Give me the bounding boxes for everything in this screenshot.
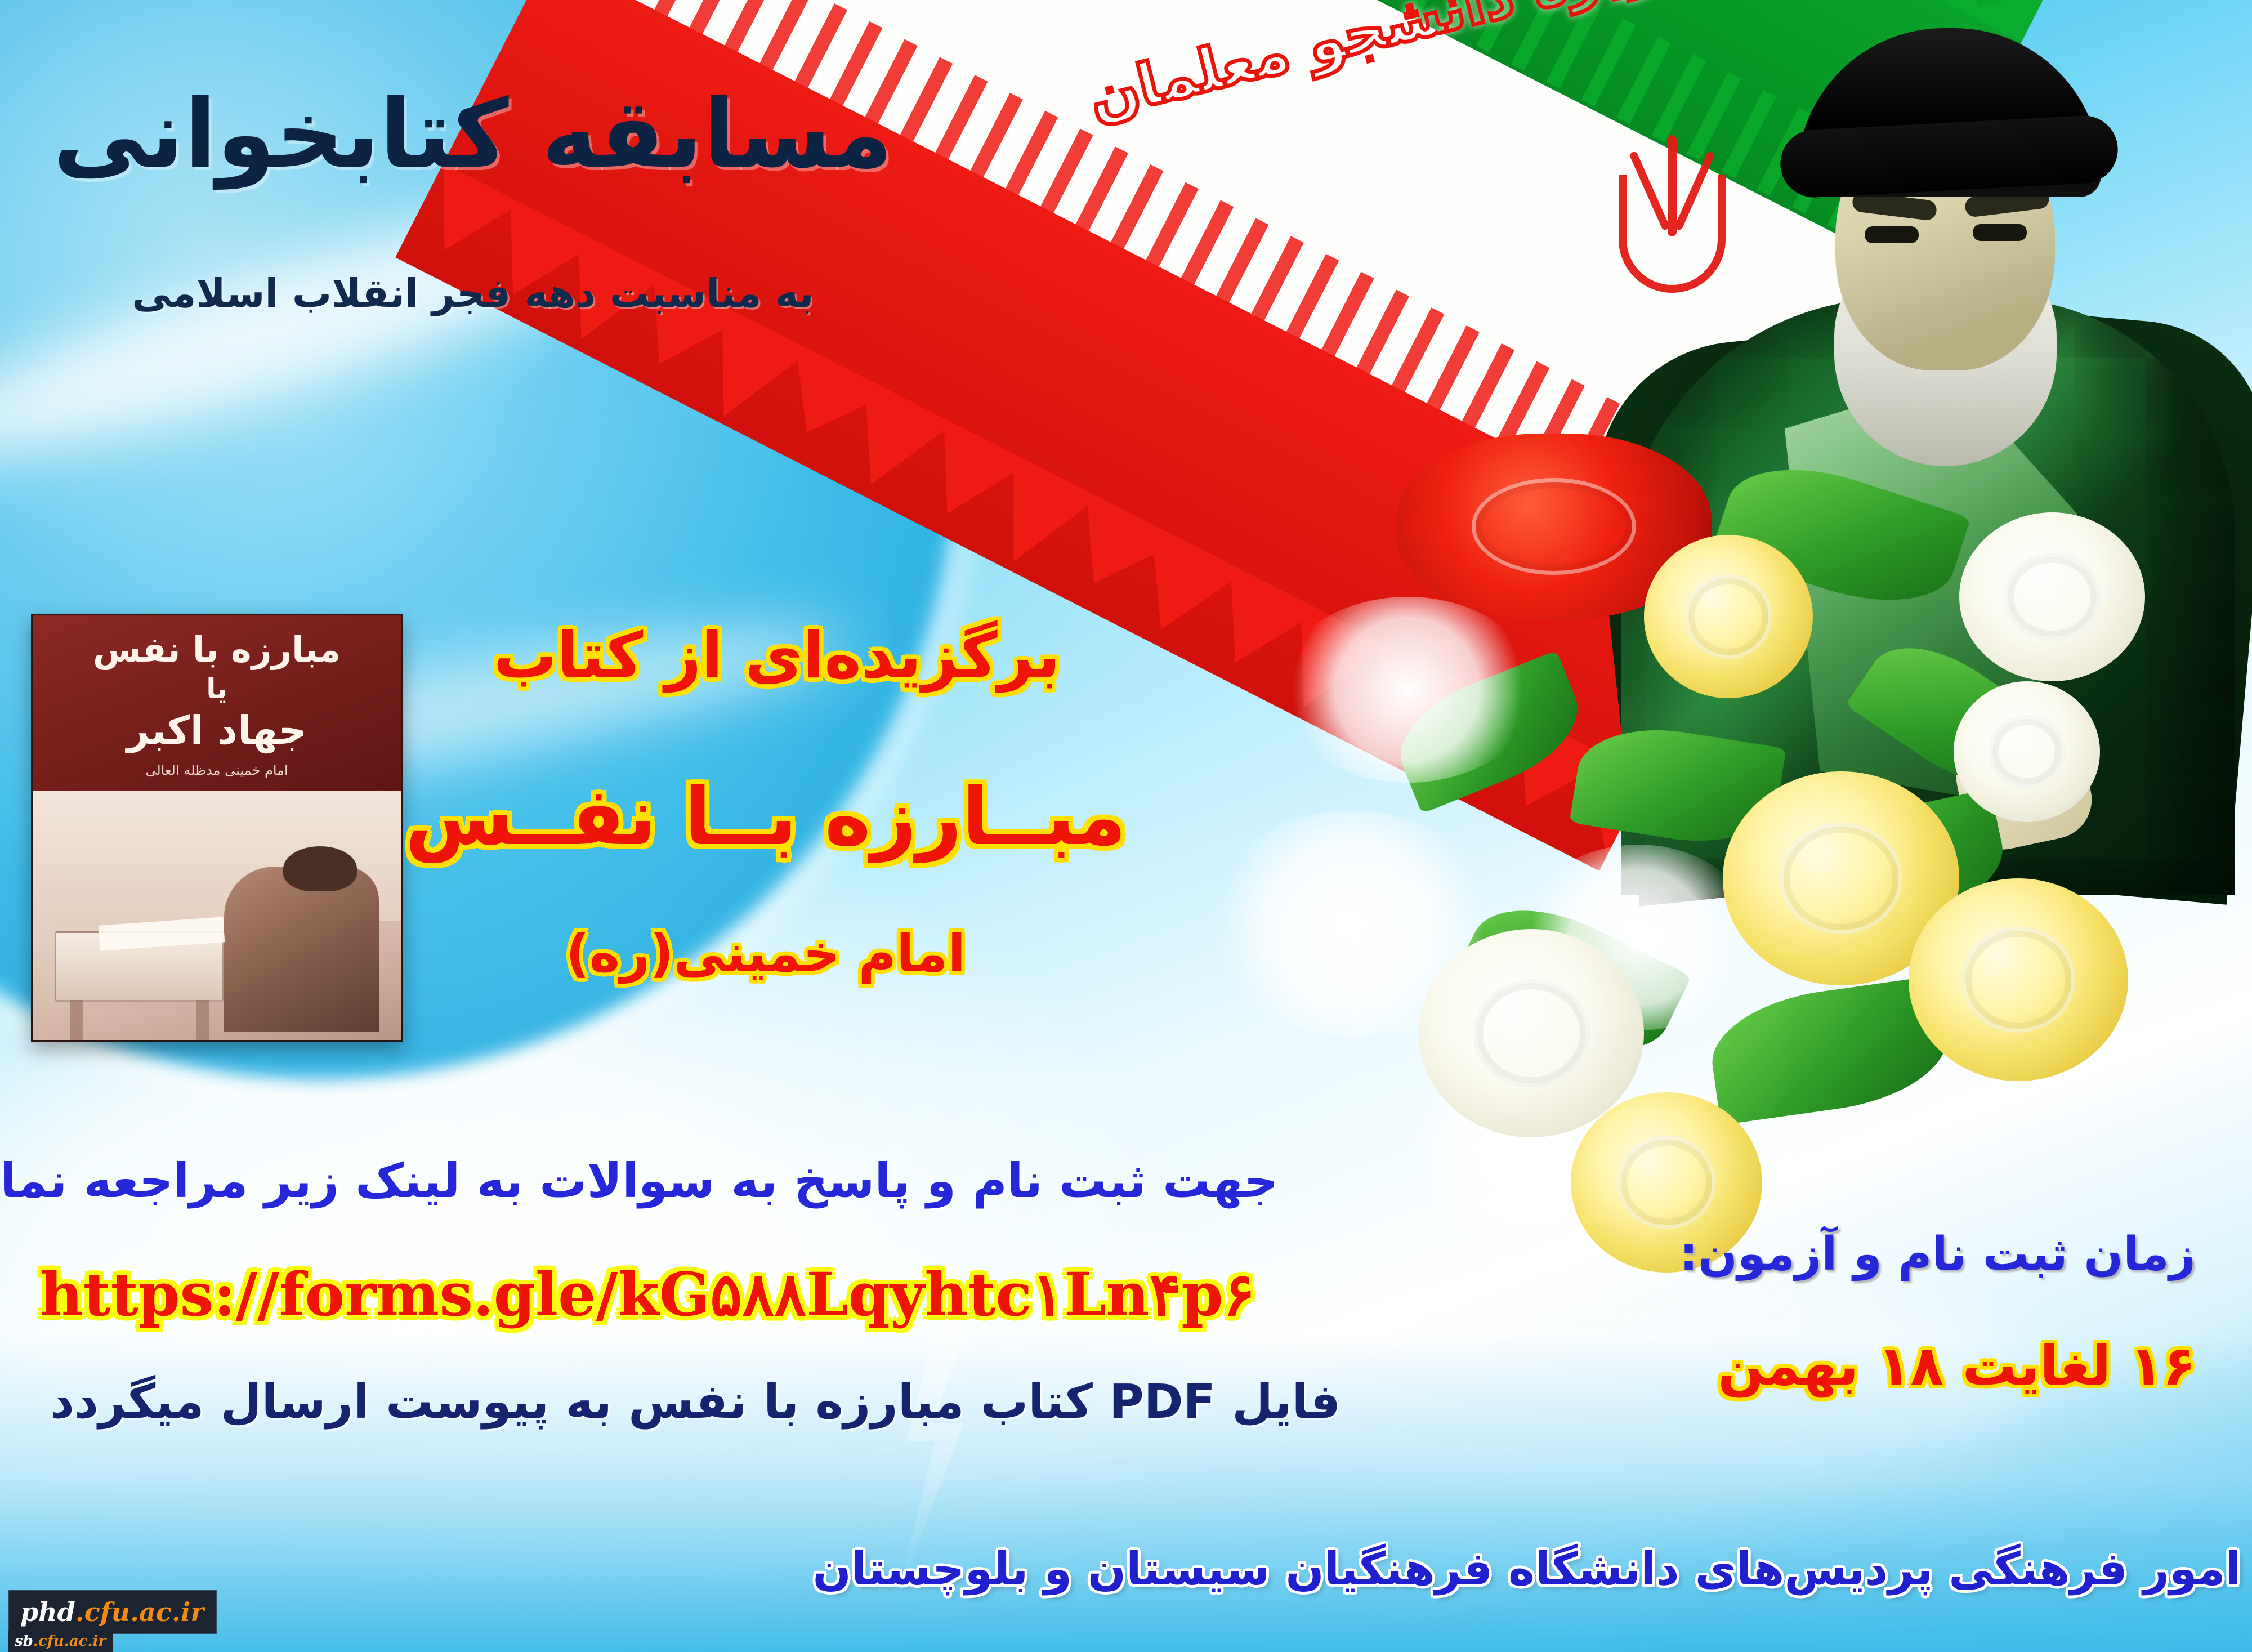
selection-label: برگزیده‌ای از کتاب: [417, 619, 1137, 693]
schedule-value: ۱۶ لغایت ۱۸ بهمن: [1441, 1334, 2196, 1397]
organizer-label: امور فرهنگی پردیس‌های دانشگاه فرهنگیان س…: [1053, 1543, 2241, 1595]
watermark-primary: phd.cfu.ac.ir: [8, 1590, 217, 1634]
poster-canvas: مبارزه با نفس یا جهاد اکبر امام خمینی مد…: [0, 0, 2252, 1652]
watermark-primary-suffix: .cfu.ac.ir: [75, 1597, 204, 1627]
page-subtitle: به مناسبت دهه فجر انقلاب اسلامی: [34, 270, 912, 316]
page-title: مسابقه کتابخوانی: [34, 79, 912, 189]
rose-white: [1419, 929, 1644, 1137]
rose-yellow: [1644, 535, 1813, 698]
book-cover-author: امام خمینی مدظله العالی: [145, 762, 288, 778]
book-cover-line3: جهاد اکبر: [127, 707, 307, 753]
photo-figure-head: [283, 846, 357, 891]
rose-white: [1954, 681, 2100, 822]
book-cover-photo: [33, 791, 401, 1042]
book-cover-image: مبارزه با نفس یا جهاد اکبر امام خمینی مد…: [31, 614, 403, 1042]
schedule-label: زمان ثبت نام و آزمون:: [1441, 1227, 2196, 1281]
photo-seated-figure: [224, 867, 379, 1032]
watermark-secondary-suffix: .cfu.ac.ir: [33, 1633, 106, 1650]
registration-link[interactable]: https://forms.gle/kG۵۸۸Lqyhtc۱Ln۴p۶: [34, 1259, 1261, 1329]
book-author-label: امام خمینی(ره): [394, 923, 1137, 984]
eye-left: [1865, 226, 1919, 243]
watermark-primary-prefix: phd: [20, 1597, 75, 1627]
watermark-secondary: sb.cfu.ac.ir: [8, 1631, 113, 1652]
turban-shape: [1797, 28, 2101, 197]
book-title-heading: مبــارزه بــا نفــس: [394, 771, 1137, 863]
watermark-secondary-prefix: sb: [15, 1633, 33, 1650]
registration-instruction: جهت ثبت نام و پاسخ به سوالات به لینک زیر…: [23, 1153, 1278, 1208]
book-cover-line1: مبارزه با نفس: [93, 629, 341, 670]
book-cover-line2: یا: [206, 672, 227, 705]
babysbreath-cluster: [1278, 597, 1537, 783]
rose-white: [1959, 512, 2145, 681]
flower-bouquet: [1227, 495, 2128, 1340]
pdf-attachment-note: فایل PDF کتاب مبارزه با نفس به پیوست ارس…: [6, 1374, 1385, 1429]
rose-yellow: [1909, 878, 2128, 1081]
eye-right: [1973, 224, 2027, 241]
book-cover-header: مبارزه با نفس یا جهاد اکبر امام خمینی مد…: [33, 615, 401, 791]
